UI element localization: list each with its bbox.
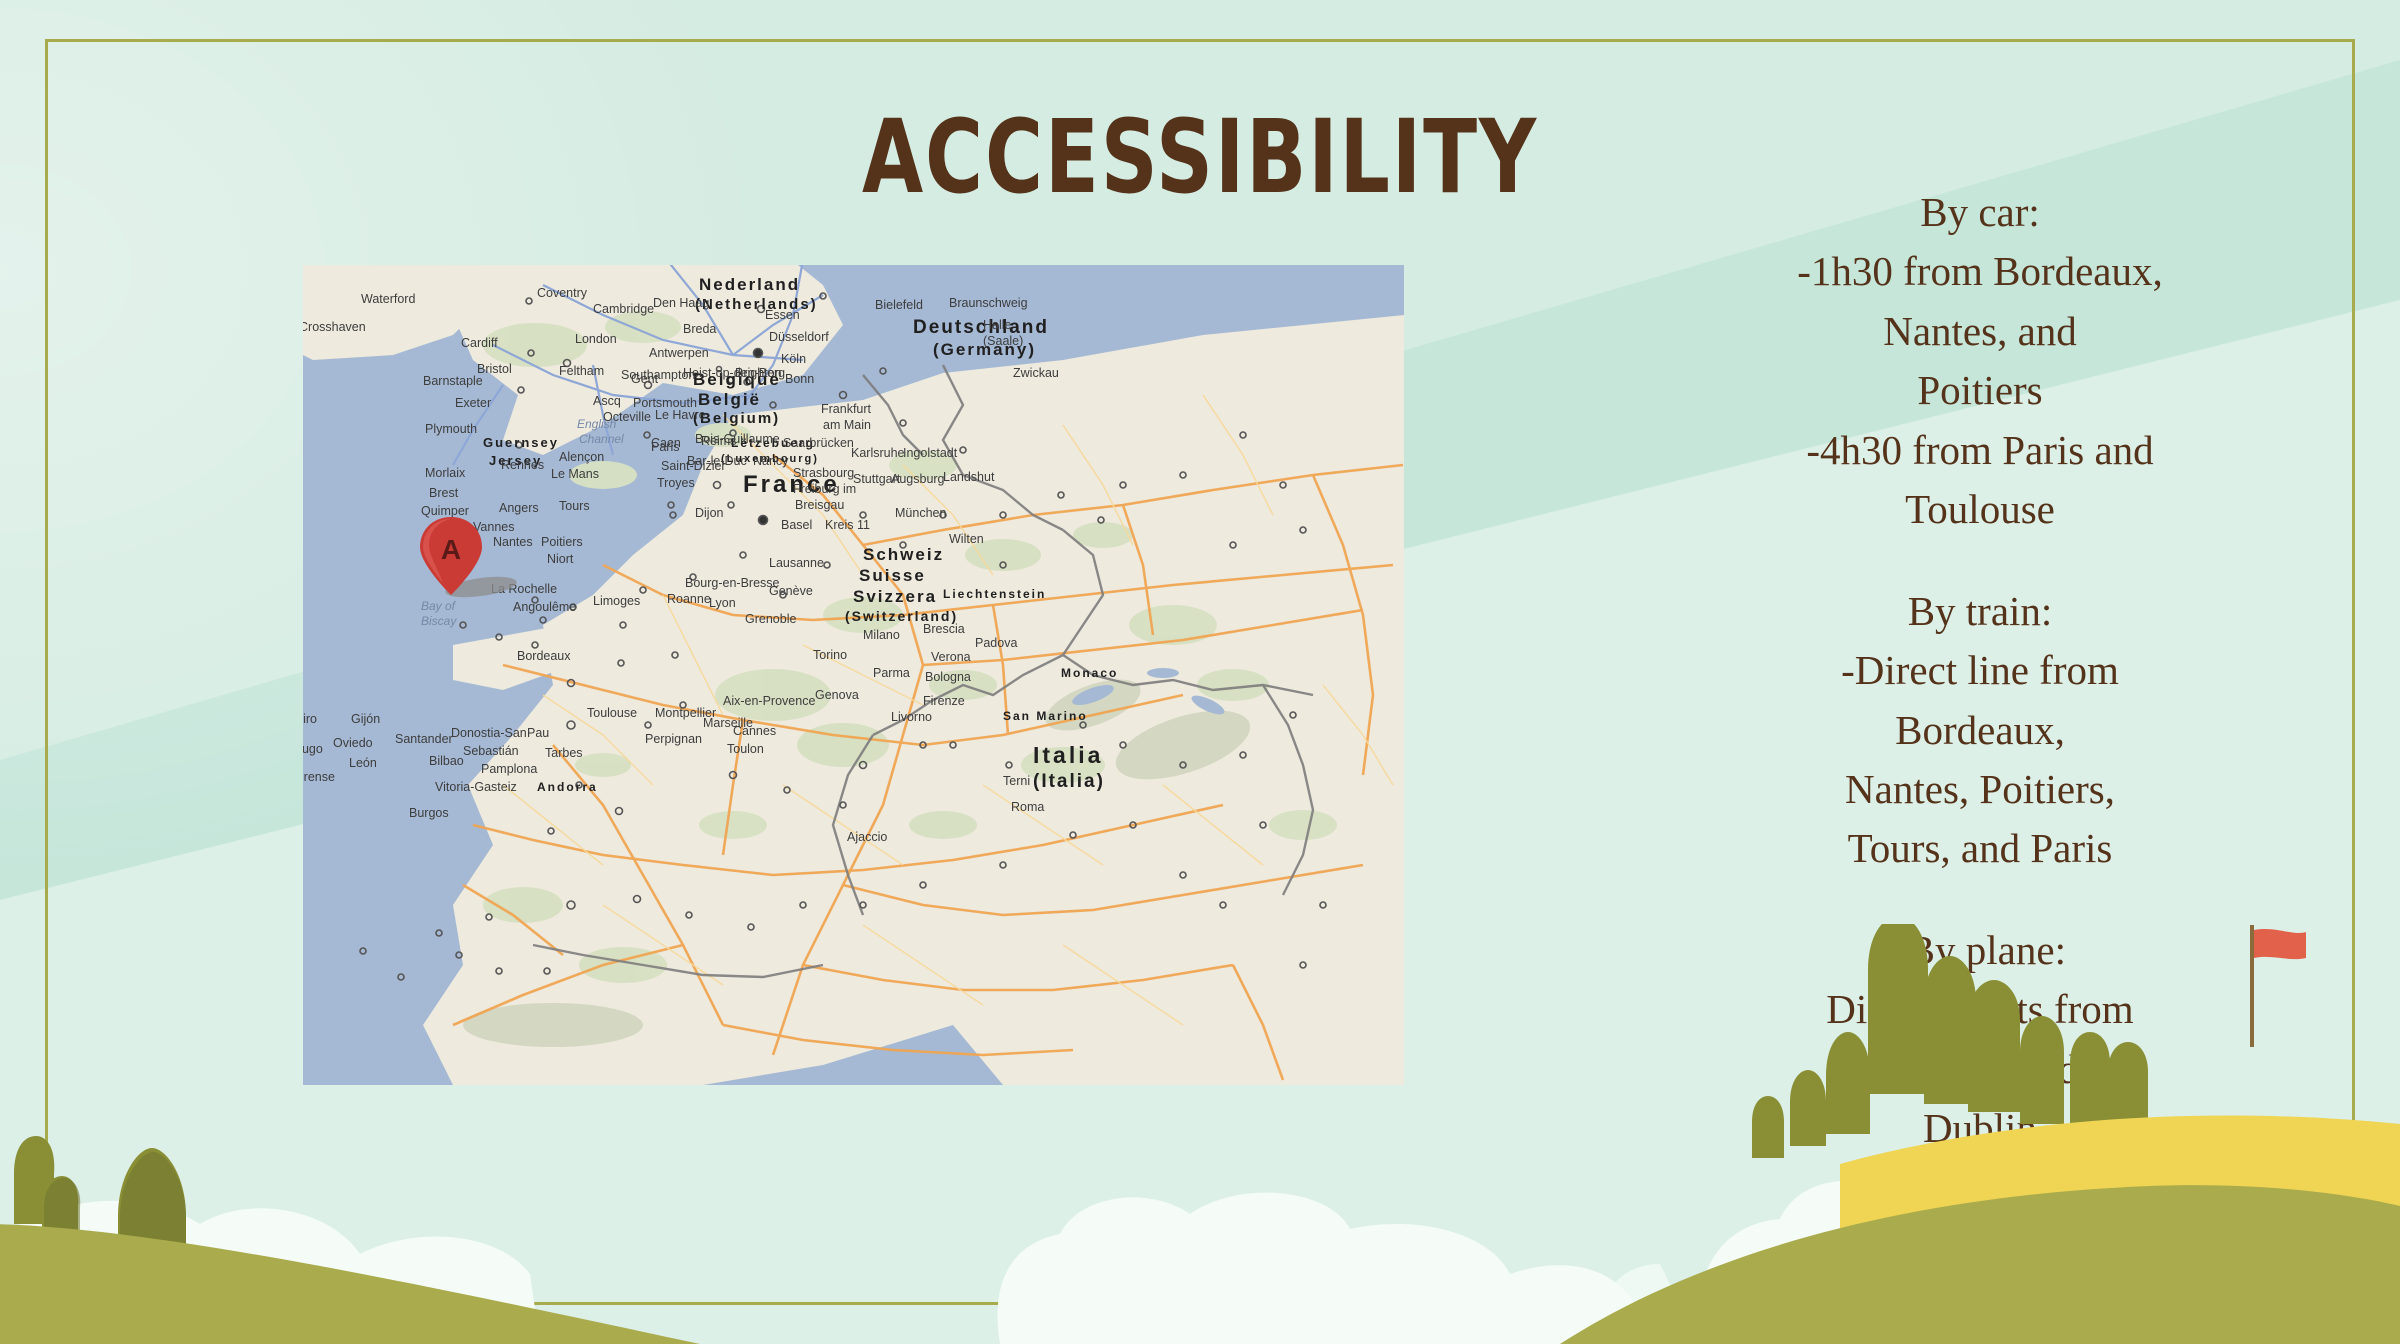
- svg-text:Ourense: Ourense: [303, 770, 335, 784]
- svg-text:Channel: Channel: [579, 432, 624, 446]
- svg-text:San Marino: San Marino: [1003, 709, 1088, 723]
- svg-text:Milano: Milano: [863, 628, 900, 642]
- svg-text:Firenze: Firenze: [923, 694, 965, 708]
- svg-text:Bay of: Bay of: [421, 599, 457, 613]
- svg-text:Genova: Genova: [815, 688, 859, 702]
- svg-text:London: London: [575, 332, 617, 346]
- svg-text:Roanne: Roanne: [667, 592, 711, 606]
- svg-text:Guernsey: Guernsey: [483, 435, 559, 450]
- svg-text:Verona: Verona: [931, 650, 971, 664]
- svg-text:Troyes: Troyes: [657, 476, 695, 490]
- svg-text:Deutschland: Deutschland: [913, 317, 1049, 338]
- svg-text:Parma: Parma: [873, 666, 910, 680]
- svg-text:Barnstaple: Barnstaple: [423, 374, 483, 388]
- svg-text:Reims: Reims: [701, 434, 736, 448]
- car-line-1: -1h30 from Bordeaux,: [1735, 242, 2225, 301]
- svg-text:Den Haag: Den Haag: [653, 296, 709, 310]
- svg-text:Feltham: Feltham: [559, 364, 604, 378]
- svg-text:Morlaix: Morlaix: [425, 466, 466, 480]
- car-line-5: Toulouse: [1735, 480, 2225, 539]
- svg-text:Niort: Niort: [547, 552, 574, 566]
- svg-text:Strasbourg: Strasbourg: [793, 466, 854, 480]
- svg-text:Cambridge: Cambridge: [593, 302, 654, 316]
- svg-text:Brescia: Brescia: [923, 622, 965, 636]
- svg-text:Torino: Torino: [813, 648, 847, 662]
- svg-text:Angers: Angers: [499, 501, 539, 515]
- svg-text:Coventry: Coventry: [537, 286, 588, 300]
- svg-text:Biscay: Biscay: [421, 614, 457, 628]
- svg-text:Wilten: Wilten: [949, 532, 984, 546]
- svg-text:Schweiz: Schweiz: [863, 545, 944, 564]
- svg-text:Toulouse: Toulouse: [587, 706, 637, 720]
- svg-text:Bonn: Bonn: [785, 372, 814, 386]
- svg-text:Antwerpen: Antwerpen: [649, 346, 709, 360]
- svg-text:Brest: Brest: [429, 486, 459, 500]
- svg-text:België: België: [698, 390, 761, 409]
- svg-text:Vannes: Vannes: [473, 520, 514, 534]
- svg-text:Lugo: Lugo: [303, 742, 323, 756]
- svg-text:München: München: [895, 506, 946, 520]
- svg-text:Limoges: Limoges: [593, 594, 640, 608]
- svg-text:Alençon: Alençon: [559, 450, 604, 464]
- decorative-landscape: [0, 924, 2400, 1344]
- train-line-3: Nantes, Poitiers,: [1735, 760, 2225, 819]
- svg-text:Grenoble: Grenoble: [745, 612, 796, 626]
- svg-text:Burgos: Burgos: [409, 806, 449, 820]
- svg-text:Svizzera: Svizzera: [853, 587, 937, 606]
- svg-text:Terni: Terni: [1003, 774, 1030, 788]
- svg-text:Plymouth: Plymouth: [425, 422, 477, 436]
- svg-text:Breda: Breda: [683, 322, 716, 336]
- car-line-2: Nantes, and: [1735, 302, 2225, 361]
- flag-icon: [2254, 929, 2306, 959]
- right-hill: [1560, 1185, 2400, 1344]
- svg-text:Düsseldorf: Düsseldorf: [769, 330, 829, 344]
- svg-text:Pamplona: Pamplona: [481, 762, 537, 776]
- svg-text:Andorra: Andorra: [537, 780, 598, 794]
- spacer-train-plane: [1735, 879, 2225, 921]
- train-line-1: -Direct line from: [1735, 641, 2225, 700]
- car-line-3: Poitiers: [1735, 361, 2225, 420]
- svg-text:Paris: Paris: [651, 440, 679, 454]
- svg-text:Quimper: Quimper: [421, 504, 469, 518]
- svg-text:(Italia): (Italia): [1033, 771, 1105, 792]
- svg-text:Basel: Basel: [781, 518, 812, 532]
- svg-text:Cannes: Cannes: [733, 724, 776, 738]
- svg-text:Aix-en-Provence: Aix-en-Provence: [723, 694, 815, 708]
- svg-text:Bielefeld: Bielefeld: [875, 298, 923, 312]
- svg-text:Breisgau: Breisgau: [795, 498, 844, 512]
- svg-text:Exeter: Exeter: [455, 396, 491, 410]
- svg-text:Suisse: Suisse: [859, 566, 926, 585]
- svg-text:Donostia-San: Donostia-San: [451, 726, 527, 740]
- svg-text:Ajaccio: Ajaccio: [847, 830, 887, 844]
- svg-text:Le Havre: Le Havre: [655, 408, 706, 422]
- svg-text:Sebastián: Sebastián: [463, 744, 519, 758]
- svg-text:am Main: am Main: [823, 418, 871, 432]
- svg-text:Bilbao: Bilbao: [429, 754, 464, 768]
- svg-text:Pau: Pau: [527, 726, 549, 740]
- svg-text:Essen: Essen: [765, 308, 800, 322]
- svg-text:Freiburg im: Freiburg im: [793, 482, 856, 496]
- svg-text:Gijón: Gijón: [351, 712, 380, 726]
- svg-text:Karlsruhe: Karlsruhe: [851, 446, 905, 460]
- svg-text:Tarbes: Tarbes: [545, 746, 583, 760]
- svg-text:Viveiro: Viveiro: [303, 712, 317, 726]
- svg-text:Crosshaven: Crosshaven: [303, 320, 366, 334]
- svg-text:Roma: Roma: [1011, 800, 1044, 814]
- svg-text:Santander: Santander: [395, 732, 453, 746]
- svg-text:Livorno: Livorno: [891, 710, 932, 724]
- svg-text:Kreis 11: Kreis 11: [825, 518, 870, 532]
- svg-text:Landshut: Landshut: [943, 470, 995, 484]
- slide-canvas: ACCESSIBILITY: [0, 0, 2400, 1344]
- svg-text:León: León: [349, 756, 377, 770]
- svg-text:Angoulême: Angoulême: [513, 600, 576, 614]
- train-heading: By train:: [1735, 582, 2225, 641]
- svg-text:Ingolstadt: Ingolstadt: [903, 446, 958, 460]
- svg-text:Le Mans: Le Mans: [551, 467, 599, 481]
- svg-text:Saarbrücken: Saarbrücken: [783, 436, 854, 450]
- svg-text:Monaco: Monaco: [1061, 666, 1118, 680]
- svg-text:Nancy: Nancy: [753, 454, 789, 468]
- svg-text:Toulon: Toulon: [727, 742, 764, 756]
- svg-text:Bourg-en-Bresse: Bourg-en-Bresse: [685, 576, 780, 590]
- svg-text:Dijon: Dijon: [695, 506, 724, 520]
- svg-text:Bologna: Bologna: [925, 670, 971, 684]
- train-line-2: Bordeaux,: [1735, 701, 2225, 760]
- svg-text:Cardiff: Cardiff: [461, 336, 498, 350]
- svg-text:Padova: Padova: [975, 636, 1017, 650]
- svg-text:Ascq: Ascq: [593, 394, 621, 408]
- svg-text:(Belgium): (Belgium): [693, 410, 780, 427]
- svg-text:Waterford: Waterford: [361, 292, 415, 306]
- svg-text:Genève: Genève: [769, 584, 813, 598]
- svg-text:A: A: [441, 534, 461, 565]
- svg-text:Lyon: Lyon: [709, 596, 736, 610]
- svg-text:Nantes: Nantes: [493, 535, 533, 549]
- spacer-car-train: [1735, 540, 2225, 582]
- svg-text:Heist-op-den-Berg: Heist-op-den-Berg: [683, 366, 785, 380]
- svg-text:Nederland: Nederland: [699, 275, 800, 294]
- svg-text:Lausanne: Lausanne: [769, 556, 824, 570]
- svg-text:Saint-Dizier: Saint-Dizier: [661, 459, 726, 473]
- svg-text:Octeville: Octeville: [603, 410, 651, 424]
- svg-text:Tours: Tours: [559, 499, 590, 513]
- svg-text:Bordeaux: Bordeaux: [517, 649, 571, 663]
- svg-text:Frankfurt: Frankfurt: [821, 402, 872, 416]
- svg-text:(Saale): (Saale): [983, 334, 1023, 348]
- svg-text:Perpignan: Perpignan: [645, 732, 702, 746]
- svg-text:Zwickau: Zwickau: [1013, 366, 1059, 380]
- svg-text:Augsburg: Augsburg: [891, 472, 945, 486]
- svg-text:Halle: Halle: [983, 318, 1012, 332]
- landscape-canvas: [0, 924, 2400, 1344]
- svg-text:Italia: Italia: [1033, 742, 1103, 768]
- svg-text:Oviedo: Oviedo: [333, 736, 373, 750]
- svg-text:Liechtenstein: Liechtenstein: [943, 587, 1046, 601]
- svg-text:Vitoria-Gasteiz: Vitoria-Gasteiz: [435, 780, 517, 794]
- svg-text:Braunschweig: Braunschweig: [949, 296, 1028, 310]
- svg-text:Poitiers: Poitiers: [541, 535, 583, 549]
- car-line-4: -4h30 from Paris and: [1735, 421, 2225, 480]
- car-heading: By car:: [1735, 183, 2225, 242]
- golf-flag: [2250, 925, 2306, 1047]
- svg-text:Köln: Köln: [781, 352, 806, 366]
- train-line-4: Tours, and Paris: [1735, 819, 2225, 878]
- svg-text:Rennes: Rennes: [501, 458, 544, 472]
- svg-text:Gent: Gent: [631, 372, 659, 386]
